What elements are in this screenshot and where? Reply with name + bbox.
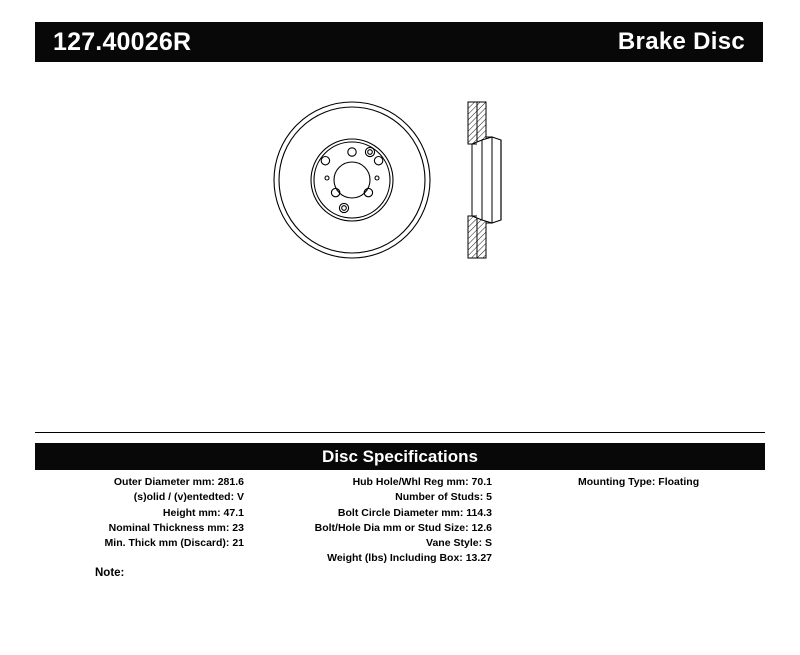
pilot-hole: [325, 176, 329, 180]
stud-hole: [321, 157, 329, 165]
inboard-friction-plate: [472, 140, 482, 220]
product-drawing: [0, 80, 800, 410]
spec-column-left: Outer Diameter mm: 281.6 (s)olid / (v)en…: [35, 475, 250, 551]
note-label: Note:: [95, 568, 124, 580]
rotor-friction-edge-circle: [279, 107, 425, 253]
spec-section-header: Disc Specifications: [35, 443, 765, 470]
locating-hole-outer: [339, 203, 348, 212]
pilot-hole: [375, 176, 379, 180]
locating-hole-inner: [368, 150, 373, 155]
hat-wall-lower: [468, 216, 477, 258]
spec-row: Min. Thick mm (Discard): 21: [35, 536, 244, 551]
part-number: 127.40026R: [53, 30, 191, 55]
hat-wall-upper-2: [477, 102, 486, 144]
rotor-hat-outer-circle: [311, 139, 393, 221]
section-divider: [35, 432, 765, 433]
vented-core-gap: [482, 137, 492, 223]
spec-row: Height mm: 47.1: [35, 506, 244, 521]
stud-hole: [348, 148, 356, 156]
locating-hole-outer: [365, 147, 374, 156]
spec-row: Mounting Type: Floating: [578, 475, 765, 490]
spec-column-middle: Hub Hole/Whl Reg mm: 70.1 Number of Stud…: [250, 475, 500, 567]
spec-row: Hub Hole/Whl Reg mm: 70.1: [250, 475, 492, 490]
brake-rotor-technical-drawing: [270, 80, 530, 280]
locating-hole-inner: [342, 206, 347, 211]
rotor-hub-face-circle: [314, 142, 390, 218]
spec-row: Bolt/Hole Dia mm or Stud Size: 12.6: [250, 521, 492, 536]
outboard-friction-plate: [492, 137, 501, 223]
rotor-outer-diameter-circle: [274, 102, 430, 258]
spec-row: Vane Style: S: [250, 536, 492, 551]
spec-columns: Outer Diameter mm: 281.6 (s)olid / (v)en…: [35, 475, 765, 567]
product-type-label: Brake Disc: [618, 30, 745, 54]
title-bar: 127.40026R Brake Disc: [35, 22, 763, 62]
spec-row: Number of Studs: 5: [250, 490, 492, 505]
spec-row: Weight (lbs) Including Box: 13.27: [250, 551, 492, 566]
spec-row: Bolt Circle Diameter mm: 114.3: [250, 506, 492, 521]
hat-wall-lower-2: [477, 216, 486, 258]
spec-row: Nominal Thickness mm: 23: [35, 521, 244, 536]
hat-wall-upper: [468, 102, 477, 144]
spec-column-right: Mounting Type: Floating: [500, 475, 765, 490]
rotor-edge-section: [468, 102, 501, 258]
spec-row: Outer Diameter mm: 281.6: [35, 475, 244, 490]
spec-section-title: Disc Specifications: [322, 448, 478, 465]
stud-hole: [374, 157, 382, 165]
spec-row: (s)olid / (v)entedted: V: [35, 490, 244, 505]
